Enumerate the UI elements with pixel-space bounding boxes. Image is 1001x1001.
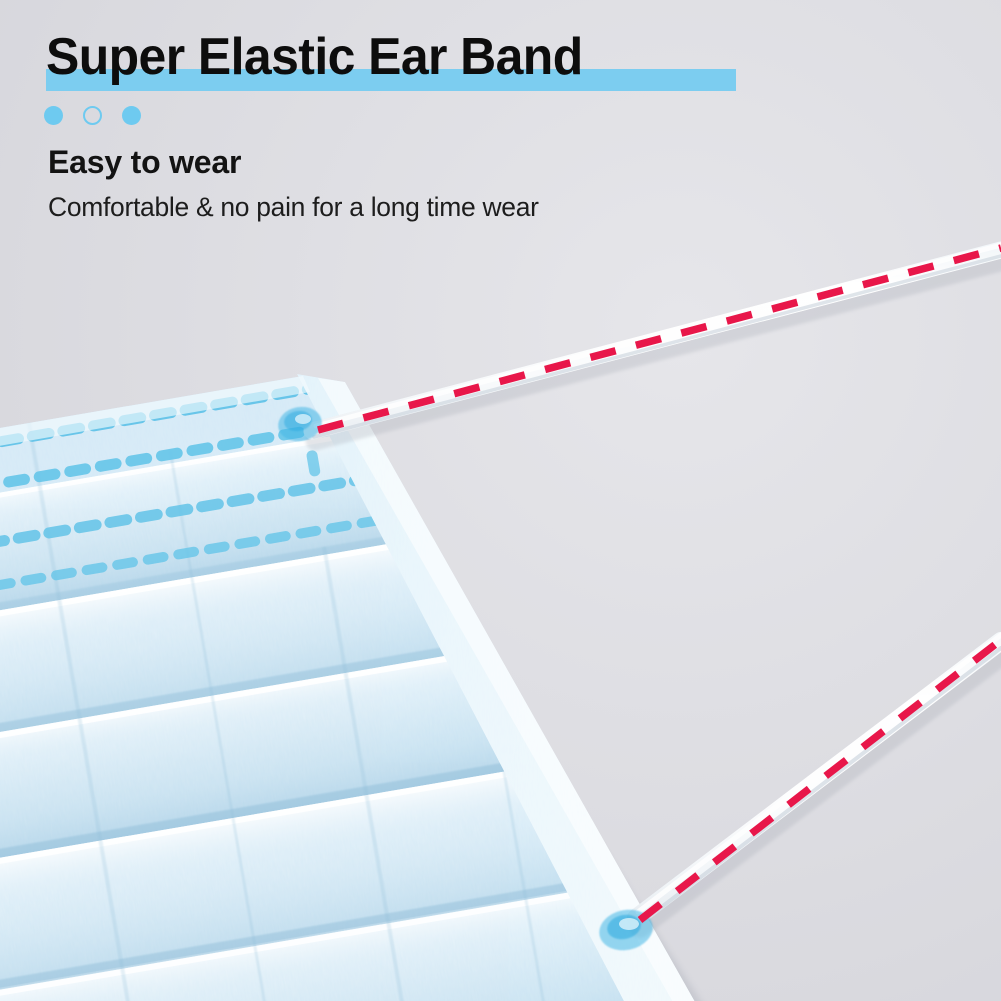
- circle-filled-icon: [44, 106, 63, 125]
- circle-outline-icon: [83, 106, 102, 125]
- headline-group: Super Elastic Ear Band: [46, 26, 605, 92]
- feature-tagline: Comfortable & no pain for a long time we…: [48, 190, 539, 224]
- page-title: Super Elastic Ear Band: [46, 26, 583, 88]
- circle-filled-icon: [122, 106, 141, 125]
- feature-subheading: Easy to wear: [48, 143, 241, 181]
- dot-indicator-group: [44, 106, 141, 125]
- promo-image-canvas: Super Elastic Ear Band Easy to wear Comf…: [0, 0, 1001, 1001]
